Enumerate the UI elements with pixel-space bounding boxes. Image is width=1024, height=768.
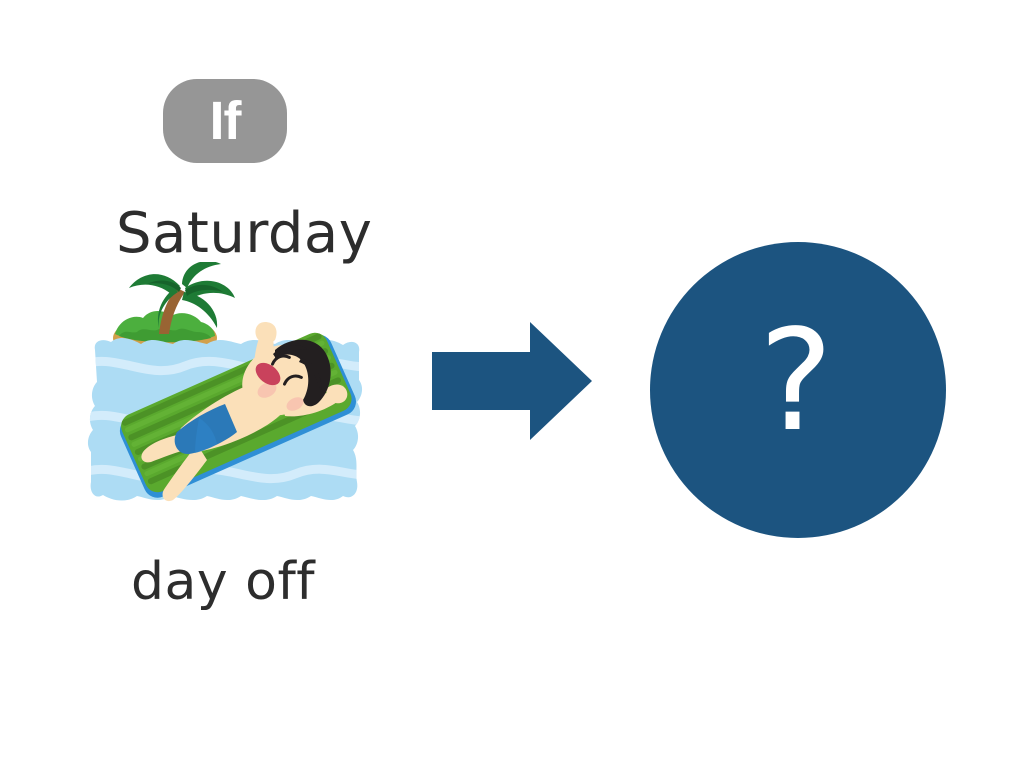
slide-canvas: If Saturday (0, 0, 1024, 768)
float-illustration (85, 262, 370, 557)
condition-line-1: Saturday (116, 206, 372, 262)
if-badge-label: If (210, 94, 241, 148)
result-circle: ? (650, 242, 946, 538)
condition-line-2: day off (131, 556, 315, 608)
result-question-mark: ? (759, 312, 833, 452)
right-arrow-svg (430, 318, 594, 444)
right-arrow-icon (430, 318, 594, 444)
float-illustration-svg (85, 262, 370, 557)
if-badge: If (163, 79, 287, 163)
